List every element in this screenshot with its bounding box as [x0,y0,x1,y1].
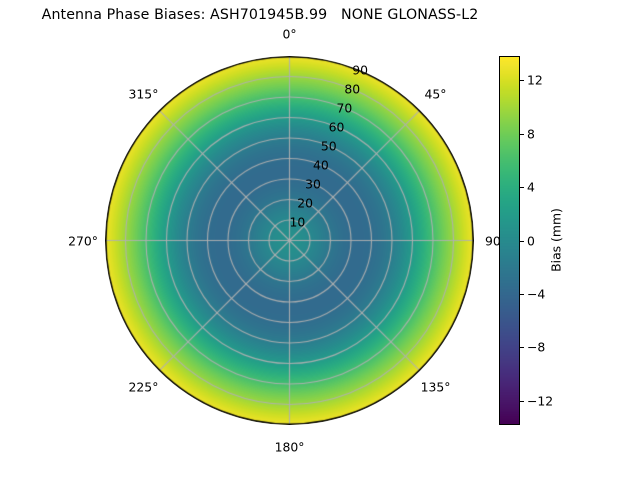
radial-tick-70: 70 [337,100,353,115]
angle-tick-180: 180° [275,440,305,455]
colorbar-tick-label: 12 [527,73,543,88]
colorbar-tick-mark [520,134,524,135]
colorbar-tick-mark [520,241,524,242]
colorbar-tick-label: 4 [527,180,535,195]
figure-canvas: Antenna Phase Biases: ASH701945B.99 NONE… [0,0,640,480]
colorbar-tick-label: −12 [527,393,553,408]
angle-tick-225: 225° [129,379,159,394]
radial-tick-10: 10 [289,214,305,229]
page-title: Antenna Phase Biases: ASH701945B.99 NONE… [0,7,520,23]
angle-tick-270: 270° [68,233,98,248]
radial-tick-20: 20 [297,195,313,210]
radial-tick-30: 30 [305,176,321,191]
colorbar[interactable]: 12840−4−8−12 [499,56,520,425]
radial-tick-60: 60 [329,119,345,134]
angle-tick-135: 135° [421,379,451,394]
colorbar-tick-mark [520,401,524,402]
colorbar-tick-label: 0 [527,233,535,248]
angle-tick-0: 0° [282,27,296,42]
radial-tick-40: 40 [313,157,329,172]
colorbar-gradient [499,56,520,425]
colorbar-tick-mark [520,80,524,81]
colorbar-tick-label: −4 [527,286,545,301]
colorbar-axis-label: Bias (mm) [549,208,564,272]
colorbar-tick-mark [520,294,524,295]
colorbar-tick-mark [520,347,524,348]
polar-heatmap [105,56,474,425]
radial-tick-90: 90 [352,63,368,78]
polar-plot [105,56,474,425]
radial-tick-50: 50 [321,138,337,153]
colorbar-tick-label: −8 [527,340,545,355]
angle-tick-45: 45° [425,87,447,102]
angle-tick-315: 315° [129,87,159,102]
colorbar-tick-mark [520,187,524,188]
colorbar-tick-label: 8 [527,126,535,141]
radial-tick-80: 80 [344,81,360,96]
